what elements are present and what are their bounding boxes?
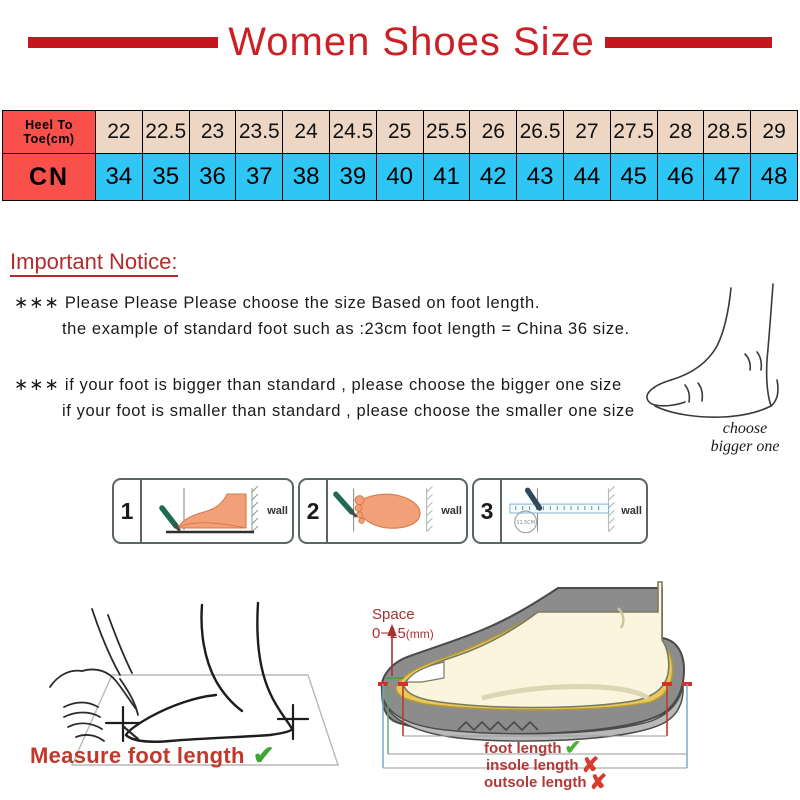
measure-step-1: 1 wall — [112, 478, 294, 544]
cell-cn-6: 40 — [376, 154, 423, 201]
label-outsole-length-text: outsole length — [484, 774, 587, 791]
cell-cn-14: 48 — [751, 154, 798, 201]
choose-bigger-caption: choose bigger one — [690, 420, 800, 456]
measure-caption-text: Measure foot length — [30, 743, 245, 769]
cell-heel-to-toe-7: 25.5 — [423, 111, 470, 154]
cell-heel-to-toe-4: 24 — [283, 111, 330, 154]
cell-heel-to-toe-8: 26 — [470, 111, 517, 154]
cell-cn-5: 39 — [329, 154, 376, 201]
cell-heel-to-toe-10: 27 — [563, 111, 610, 154]
step-1-illustration: wall — [142, 480, 292, 542]
cell-cn-4: 38 — [283, 154, 330, 201]
cell-heel-to-toe-5: 24.5 — [329, 111, 376, 154]
cell-cn-3: 37 — [236, 154, 283, 201]
cell-cn-13: 47 — [704, 154, 751, 201]
notice-stars-2: ∗∗∗ — [14, 375, 60, 394]
label-foot-length-text: foot length — [484, 740, 561, 757]
step-2-wall-label: wall — [441, 505, 462, 517]
step-1-wall-label: wall — [267, 505, 288, 517]
notice-heading: Important Notice: — [10, 250, 178, 277]
space-label-line-1: Space — [372, 605, 434, 624]
step-2-illustration: wall — [328, 480, 466, 542]
cell-cn-2: 36 — [189, 154, 236, 201]
step-3-wall-label: wall — [621, 505, 642, 517]
cell-cn-7: 41 — [423, 154, 470, 201]
cell-heel-to-toe-13: 28.5 — [704, 111, 751, 154]
row-header-heel-to-toe: Heel To Toe(cm) — [3, 111, 96, 154]
cell-heel-to-toe-3: 23.5 — [236, 111, 283, 154]
label-insole-length: insole length ✘ — [484, 757, 607, 774]
measure-foot-length-caption: Measure foot length ✔ — [30, 740, 275, 771]
notice-line-2: the example of standard foot such as :23… — [14, 316, 630, 342]
page-title: Women Shoes Size — [218, 22, 605, 62]
measure-check-icon: ✔ — [253, 740, 275, 771]
cell-cn-9: 43 — [517, 154, 564, 201]
notice-paragraph-1: ∗∗∗ Please Please Please choose the size… — [14, 290, 630, 342]
choose-bigger-line-1: choose — [690, 420, 800, 438]
cell-heel-to-toe-12: 28 — [657, 111, 704, 154]
title-rule-left — [28, 37, 218, 48]
cell-heel-to-toe-9: 26.5 — [517, 111, 564, 154]
label-outsole-length: outsole length ✘ — [484, 774, 607, 791]
measure-step-2: 2 wall — [298, 478, 468, 544]
cell-heel-to-toe-14: 29 — [751, 111, 798, 154]
label-insole-length-text: insole length — [486, 757, 579, 774]
cell-heel-to-toe-0: 22 — [96, 111, 143, 154]
cell-heel-to-toe-1: 22.5 — [142, 111, 189, 154]
foot-length-check-icon: ✔ — [564, 742, 581, 755]
cell-heel-to-toe-6: 25 — [376, 111, 423, 154]
step-3-illustration: 11.5CM wall — [502, 480, 646, 542]
cell-heel-to-toe-11: 27.5 — [610, 111, 657, 154]
space-label-unit: (mm) — [406, 627, 434, 641]
page-title-bar: Women Shoes Size — [0, 14, 800, 70]
title-rule-right — [605, 37, 772, 48]
shoe-length-labels: foot length ✔ insole length ✘ outsole le… — [484, 740, 607, 791]
step-3-ruler-badge: 11.5CM — [516, 520, 535, 526]
choose-bigger-line-2: bigger one — [690, 438, 800, 456]
table-row-heel-to-toe: Heel To Toe(cm) 2222.52323.52424.52525.5… — [3, 111, 798, 154]
step-1-number: 1 — [114, 480, 142, 542]
cell-cn-10: 44 — [563, 154, 610, 201]
notice-paragraph-2: ∗∗∗ if your foot is bigger than standard… — [14, 372, 635, 424]
cell-cn-1: 35 — [142, 154, 189, 201]
measure-step-3: 3 — [472, 478, 648, 544]
notice-stars-1: ∗∗∗ — [14, 293, 60, 312]
step-3-number: 3 — [474, 480, 502, 542]
row-header-cn: CN — [3, 154, 96, 201]
cell-cn-12: 46 — [657, 154, 704, 201]
step-2-number: 2 — [300, 480, 328, 542]
cell-cn-8: 42 — [470, 154, 517, 201]
cell-cn-11: 45 — [610, 154, 657, 201]
space-dimension-label: Space 0−15(mm) — [372, 605, 434, 644]
size-conversion-table: Heel To Toe(cm) 2222.52323.52424.52525.5… — [2, 110, 798, 201]
notice-line-1: Please Please Please choose the size Bas… — [65, 294, 540, 312]
notice-line-3: if your foot is bigger than standard , p… — [65, 376, 622, 394]
table-row-cn: CN 343536373839404142434445464748 — [3, 154, 798, 201]
cell-heel-to-toe-2: 23 — [189, 111, 236, 154]
space-label-line-2: 0−15 — [372, 625, 406, 642]
outsole-length-x-icon: ✘ — [590, 776, 608, 789]
cell-cn-0: 34 — [96, 154, 143, 201]
notice-line-4: if your foot is smaller than standard , … — [14, 398, 635, 424]
